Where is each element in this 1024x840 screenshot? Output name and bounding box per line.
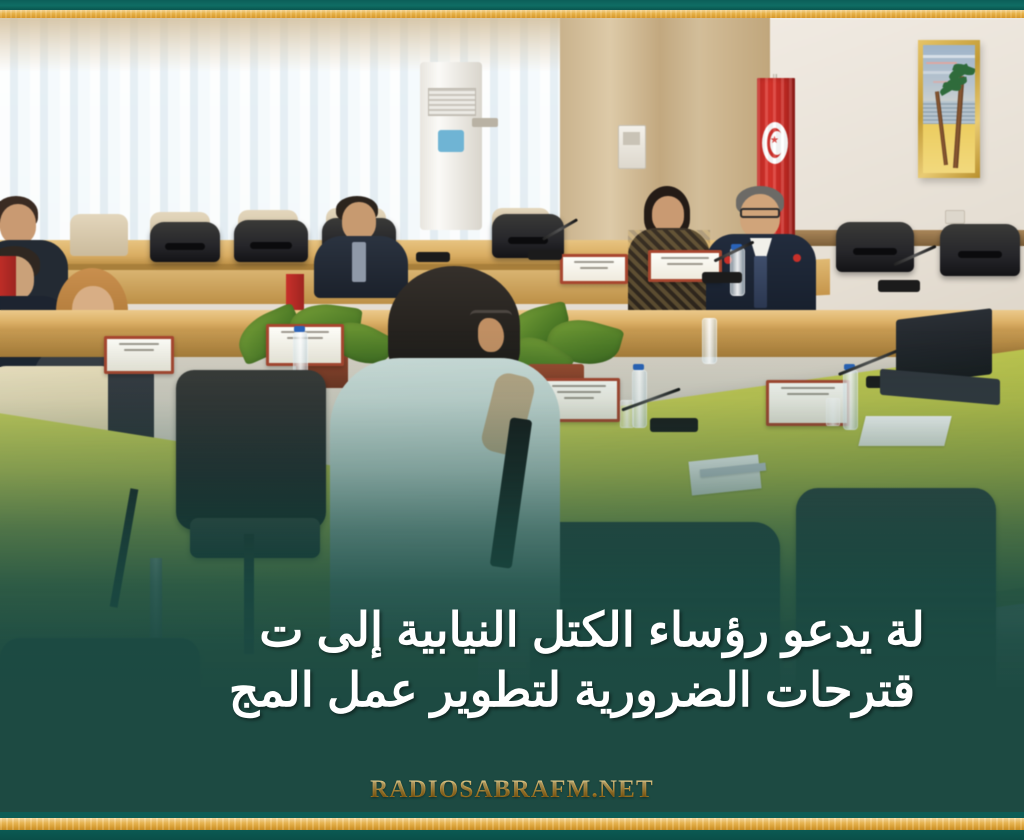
headline-line-2: قترحات الضرورية لتطوير عمل المج (0, 660, 1024, 720)
news-banner: ★ (0, 0, 1024, 840)
top-gold-strip (0, 10, 1024, 18)
headline-block: لة يدعو رؤساء الكتل النيابية إلى ت قترحا… (0, 600, 1024, 720)
bottom-gold-strip (0, 818, 1024, 830)
website-url[interactable]: RADIOSABRAFM.NET (0, 776, 1024, 804)
top-teal-strip (0, 0, 1024, 10)
headline-line-1: لة يدعو رؤساء الكتل النيابية إلى ت (0, 600, 1024, 660)
bottom-teal-strip (0, 830, 1024, 840)
